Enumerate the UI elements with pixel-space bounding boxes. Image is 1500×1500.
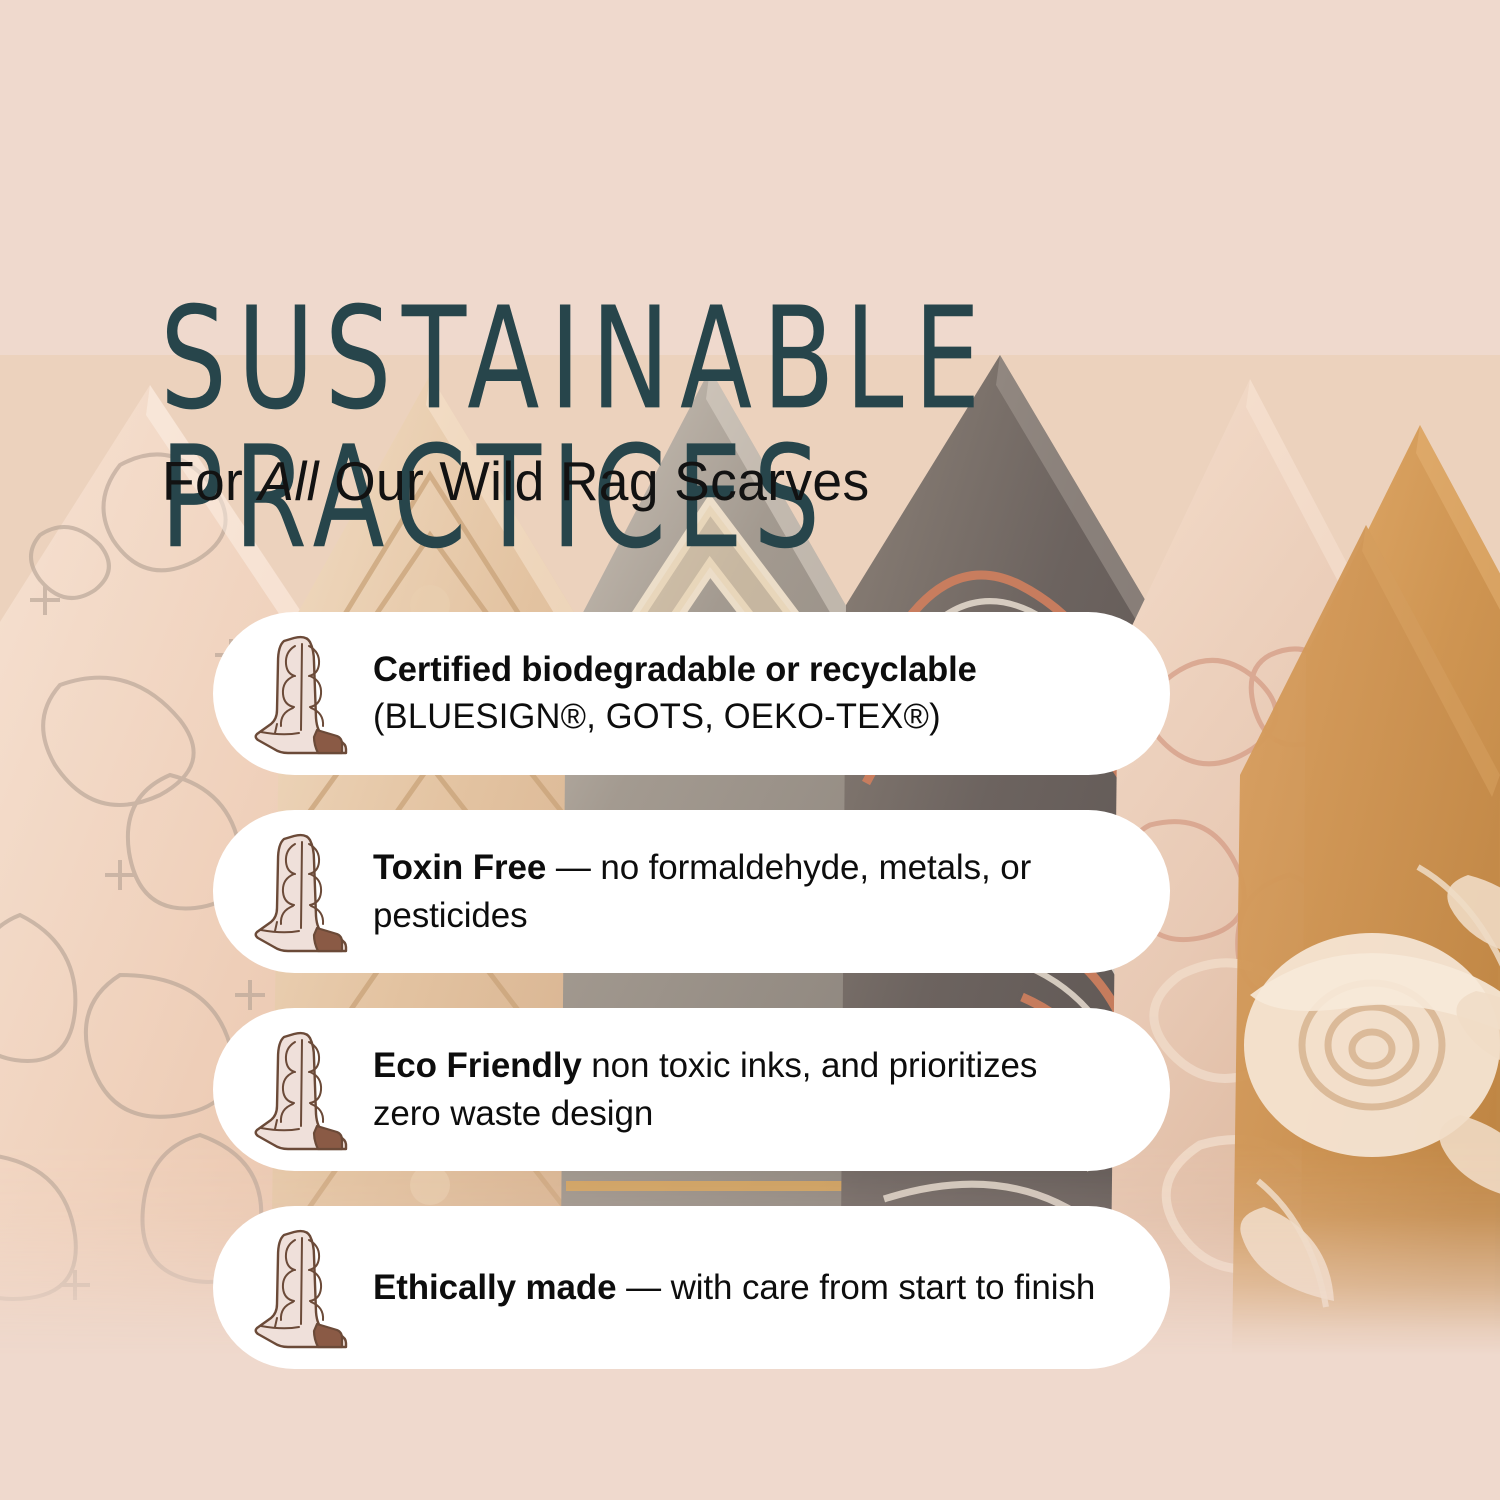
subtitle-after: Our Wild Rag Scarves (319, 450, 870, 512)
practice-card-text: Ethically made — with care from start to… (373, 1264, 1095, 1311)
practice-card-title: Certified biodegradable or recyclable (373, 650, 977, 689)
cowboy-boot-icon (247, 1226, 353, 1350)
practice-card-list: Certified biodegradable or recyclable (B… (213, 612, 1170, 1369)
practice-card-title: Toxin Free (373, 847, 546, 887)
subtitle-emphasis: All (258, 450, 318, 512)
subtitle-before: For (162, 450, 258, 512)
practice-card[interactable]: Ethically made — with care from start to… (213, 1206, 1170, 1369)
practice-card-text: Eco Friendly non toxic inks, and priorit… (373, 1042, 1113, 1136)
infographic-canvas: SUSTAINABLE PRACTICES For All Our Wild R… (0, 0, 1500, 1500)
page-subtitle: For All Our Wild Rag Scarves (162, 449, 870, 513)
practice-card-subtext: (BLUESIGN®, GOTS, OEKO-TEX®) (373, 697, 941, 736)
practice-card-text: Certified biodegradable or recyclable (B… (373, 647, 977, 740)
practice-card-text: Toxin Free — no formaldehyde, metals, or… (373, 844, 1113, 938)
cowboy-boot-icon (247, 830, 353, 954)
practice-card-title: Ethically made (373, 1267, 617, 1307)
cowboy-boot-icon (247, 1028, 353, 1152)
practice-card-body: — with care from start to finish (617, 1267, 1096, 1307)
practice-card[interactable]: Toxin Free — no formaldehyde, metals, or… (213, 810, 1170, 973)
practice-card[interactable]: Certified biodegradable or recyclable (B… (213, 612, 1170, 775)
cowboy-boot-icon (247, 632, 353, 756)
practice-card[interactable]: Eco Friendly non toxic inks, and priorit… (213, 1008, 1170, 1171)
practice-card-title: Eco Friendly (373, 1045, 582, 1085)
